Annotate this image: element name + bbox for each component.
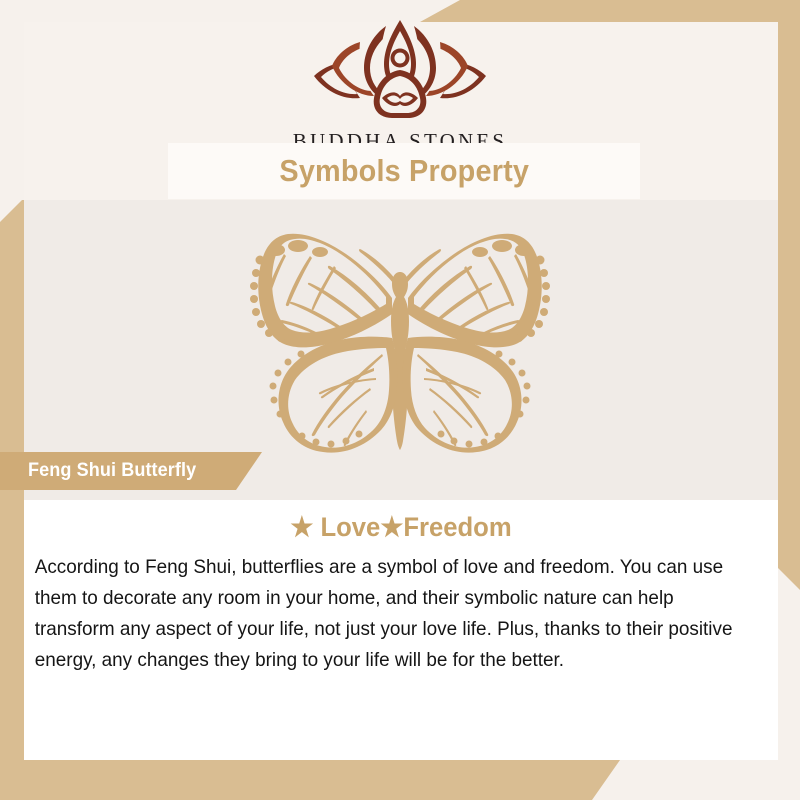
- ribbon-label: Feng Shui Butterfly: [0, 452, 262, 490]
- decor-bar-left: [0, 200, 24, 800]
- section-paragraph: According to Feng Shui, butterflies are …: [24, 543, 759, 676]
- poster-page: BUDDHA STONES Symbols Property: [0, 0, 800, 800]
- brand-logo: BUDDHA STONES: [0, 18, 800, 154]
- butterfly-illustration: [210, 228, 590, 460]
- butterfly-icon: [210, 228, 590, 460]
- lotus-meditation-icon: [0, 18, 800, 127]
- section-subheading: ★ Love★Freedom: [43, 500, 759, 543]
- ribbon-text: Feng Shui Butterfly: [28, 460, 196, 482]
- title-band: Symbols Property: [168, 143, 640, 199]
- description-card: ★ Love★Freedom According to Feng Shui, b…: [24, 500, 778, 760]
- page-title: Symbols Property: [279, 153, 529, 189]
- decor-bar-bottom: [0, 760, 620, 800]
